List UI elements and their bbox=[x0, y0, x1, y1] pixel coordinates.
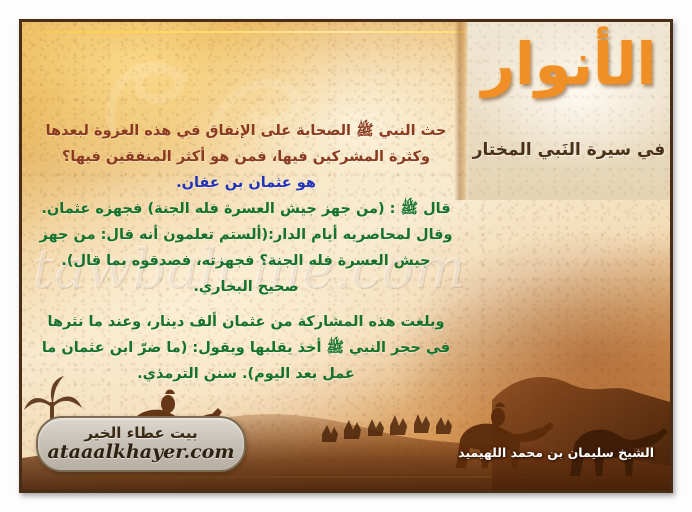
text-line: وكثرة المشركين فيها، فمن هو أكثر المنفقي… bbox=[36, 144, 456, 170]
text-line: قال ﷺ : (من جهز جيش العسرة فله الجنة) فج… bbox=[36, 196, 456, 222]
poster-root: الأنوار في سيرة النَبي المختار tawbah.me… bbox=[0, 0, 692, 512]
author-credit: الشيخ سليمان بن محمد اللهيميد bbox=[458, 445, 654, 460]
article-body: حث النبي ﷺ الصحابة على الإنفاق في هذه ال… bbox=[36, 118, 456, 387]
text-line: وبلغت هذه المشاركة من عثمان ألف دينار، و… bbox=[36, 309, 456, 335]
logo-arabic-text: بيت عطاء الخير bbox=[84, 425, 197, 442]
text-line: صحيح البخاري. bbox=[36, 274, 456, 300]
site-logo-badge[interactable]: بيت عطاء الخير ataaalkhayer.com bbox=[36, 416, 246, 472]
text-line: هو عثمان بن عفان. bbox=[36, 170, 456, 196]
poster-frame: الأنوار في سيرة النَبي المختار tawbah.me… bbox=[19, 19, 673, 493]
title-panel-divider bbox=[454, 22, 468, 200]
text-line: عمل بعد اليوم). سنن الترمذي. bbox=[36, 361, 456, 387]
page-title: الأنوار bbox=[468, 34, 670, 95]
text-line: وقال لمحاصريه أيام الدار:(ألستم تعلمون أ… bbox=[36, 222, 456, 248]
logo-domain-text: ataaalkhayer.com bbox=[48, 442, 235, 463]
text-line: حث النبي ﷺ الصحابة على الإنفاق في هذه ال… bbox=[36, 118, 456, 144]
text-line: في حجر النبي ﷺ أخذ يقلبها ويقول: (ما ضرّ… bbox=[36, 335, 456, 361]
text-line: جيش العسرة فله الجنة؟ فجهزته، فصدقوه بما… bbox=[36, 248, 456, 274]
paragraph-gap bbox=[36, 300, 456, 309]
page-subtitle: في سيرة النَبي المختار bbox=[468, 140, 670, 160]
title-panel: الأنوار في سيرة النَبي المختار bbox=[468, 22, 670, 200]
gold-rule-bottom bbox=[22, 476, 670, 478]
